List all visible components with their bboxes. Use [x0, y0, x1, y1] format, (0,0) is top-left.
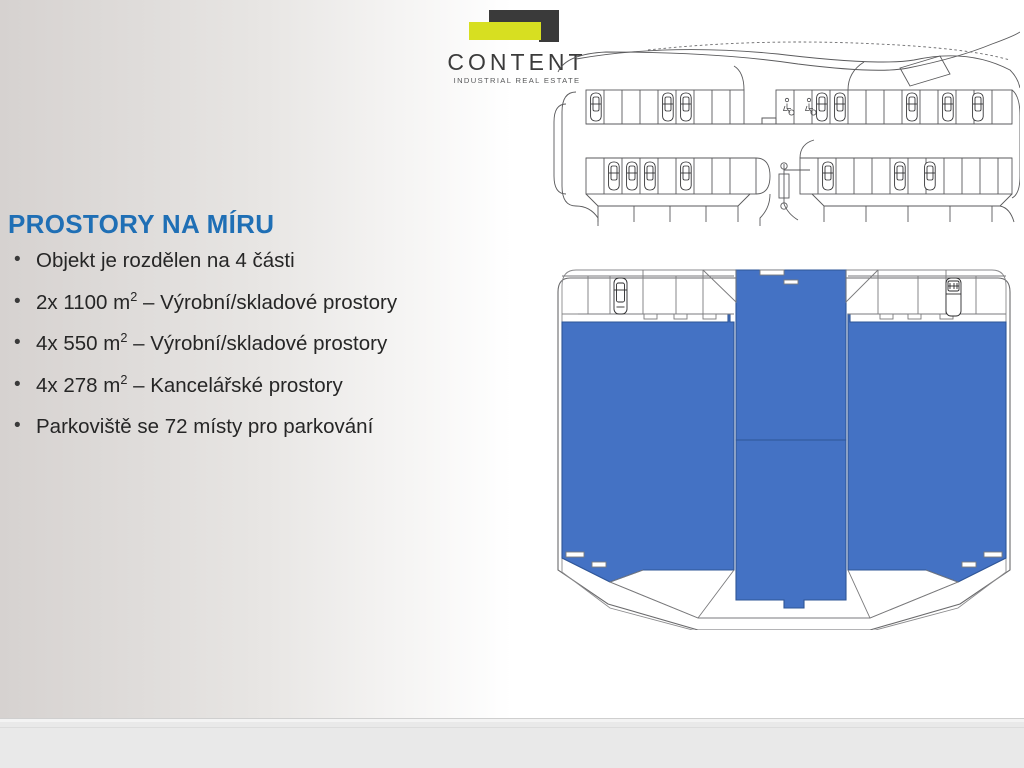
- bullet-text-pre: 4x 278 m: [36, 374, 120, 397]
- unit-east-hall: [848, 314, 1006, 582]
- bullet-text-post: – Výrobní/skladové prostory: [127, 332, 387, 355]
- list-item: Parkoviště se 72 místy pro parkování: [8, 414, 518, 440]
- list-item: 4x 278 m2 – Kancelářské prostory: [8, 373, 518, 399]
- slide-canvas: CONTENT INDUSTRIAL REAL ESTATE PROSTORY …: [0, 0, 1024, 768]
- site-parking-plan-drawing: [548, 26, 1020, 226]
- bullet-text-post: – Kancelářské prostory: [127, 374, 342, 397]
- building-floor-plan-drawing: [548, 252, 1020, 630]
- bullet-text: Objekt je rozdělen na 4 části: [36, 249, 295, 272]
- bullet-text-post: – Výrobní/skladové prostory: [137, 291, 397, 314]
- bullet-text-pre: 2x 1100 m: [36, 291, 130, 314]
- parked-truck-icon: [946, 278, 961, 316]
- page-title: PROSTORY NA MÍRU: [8, 209, 274, 240]
- unit-central-upper: [736, 270, 846, 440]
- feature-bullet-list: Objekt je rozdělen na 4 části 2x 1100 m2…: [8, 248, 518, 456]
- accessible-parking-icon: [784, 98, 817, 115]
- list-item: 4x 550 m2 – Výrobní/skladové prostory: [8, 331, 518, 357]
- list-item: Objekt je rozdělen na 4 části: [8, 248, 518, 274]
- list-item: 2x 1100 m2 – Výrobní/skladové prostory: [8, 290, 518, 316]
- bullet-text-pre: 4x 550 m: [36, 332, 120, 355]
- unit-central-lower: [736, 440, 846, 608]
- footer-divider: [0, 727, 1024, 728]
- unit-west-hall: [562, 314, 734, 582]
- bullet-text: Parkoviště se 72 místy pro parkování: [36, 415, 373, 438]
- footer-band: [0, 718, 1024, 768]
- parked-car-icon: [614, 278, 627, 314]
